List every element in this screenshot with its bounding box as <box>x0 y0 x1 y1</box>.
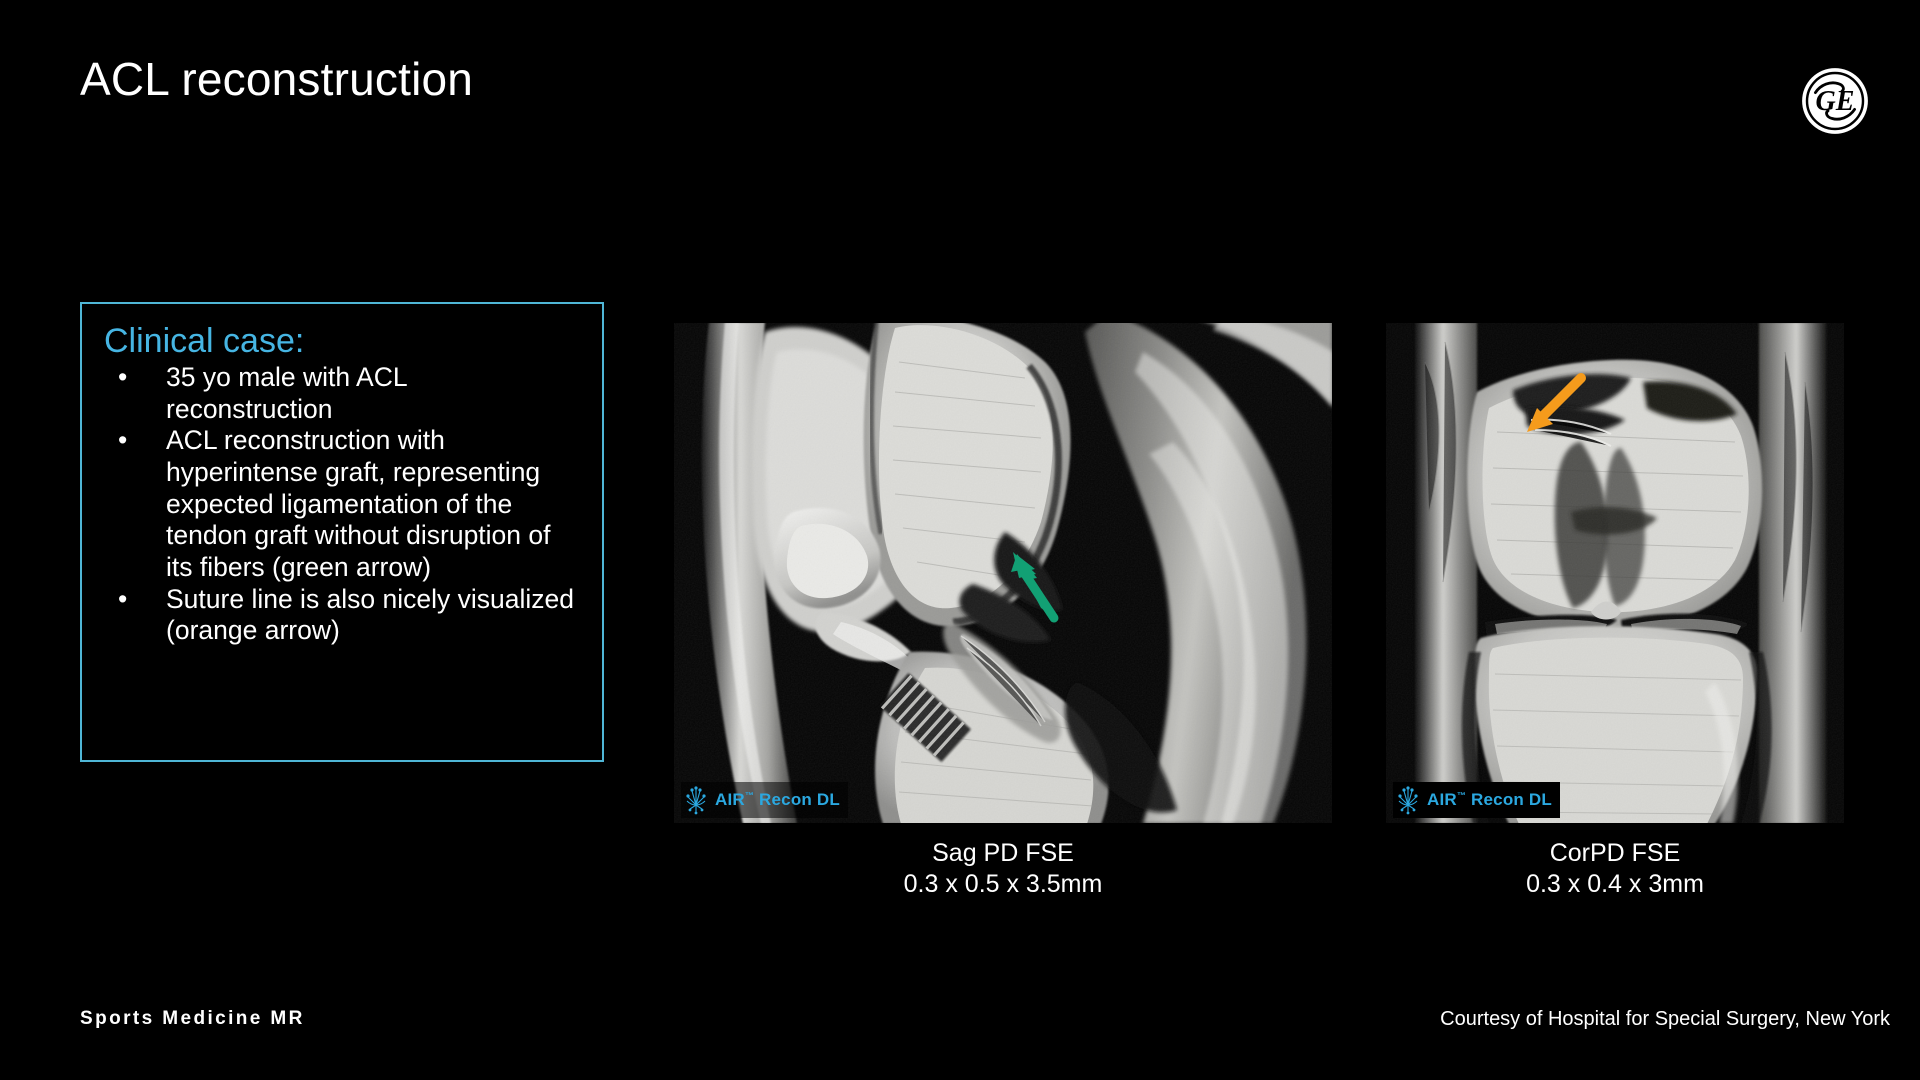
bullet-icon: • <box>118 425 127 457</box>
sagittal-knee-mri-render <box>673 322 1333 824</box>
mri-image-coronal[interactable]: AIR™ Recon DL <box>1385 322 1845 824</box>
svg-text:GE: GE <box>1816 86 1855 117</box>
mri-image-sagittal[interactable]: AIR™ Recon DL <box>673 322 1333 824</box>
clinical-case-box: Clinical case: • 35 yo male with ACL rec… <box>80 302 604 762</box>
list-item-text: Suture line is also nicely visualized (o… <box>166 584 574 646</box>
list-item: • ACL reconstruction with hyperintense g… <box>104 425 580 583</box>
clinical-case-heading: Clinical case: <box>104 322 580 360</box>
mri-frame-coronal: AIR™ Recon DL <box>1385 322 1845 824</box>
air-badge-text: AIR™ Recon DL <box>715 790 840 810</box>
clinical-case-bullet-list: • 35 yo male with ACL reconstruction • A… <box>104 362 580 647</box>
coronal-knee-mri-render <box>1385 322 1845 824</box>
bullet-icon: • <box>118 584 127 616</box>
air-recon-dl-badge-sagittal: AIR™ Recon DL <box>681 782 848 818</box>
list-item-text: 35 yo male with ACL reconstruction <box>166 362 407 424</box>
list-item: • 35 yo male with ACL reconstruction <box>104 362 580 425</box>
ge-logo: GE <box>1800 66 1870 136</box>
bullet-icon: • <box>118 362 127 394</box>
list-item: • Suture line is also nicely visualized … <box>104 584 580 647</box>
caption-sagittal-line2: 0.3 x 0.5 x 3.5mm <box>673 869 1333 900</box>
footer-section-label: Sports Medicine MR <box>80 1008 305 1030</box>
page-title: ACL reconstruction <box>80 52 473 106</box>
neural-network-icon <box>683 785 709 815</box>
air-recon-dl-badge-coronal: AIR™ Recon DL <box>1393 782 1560 818</box>
air-badge-text: AIR™ Recon DL <box>1427 790 1552 810</box>
caption-coronal: CorPD FSE 0.3 x 0.4 x 3mm <box>1385 838 1845 900</box>
footer-courtesy: Courtesy of Hospital for Special Surgery… <box>1440 1008 1890 1031</box>
neural-network-icon <box>1395 785 1421 815</box>
ge-monogram-icon: GE <box>1800 66 1870 136</box>
caption-coronal-line2: 0.3 x 0.4 x 3mm <box>1385 869 1845 900</box>
caption-coronal-line1: CorPD FSE <box>1385 838 1845 869</box>
mri-frame-sagittal: AIR™ Recon DL <box>673 322 1333 824</box>
caption-sagittal: Sag PD FSE 0.3 x 0.5 x 3.5mm <box>673 838 1333 900</box>
caption-sagittal-line1: Sag PD FSE <box>673 838 1333 869</box>
list-item-text: ACL reconstruction with hyperintense gra… <box>166 425 551 582</box>
